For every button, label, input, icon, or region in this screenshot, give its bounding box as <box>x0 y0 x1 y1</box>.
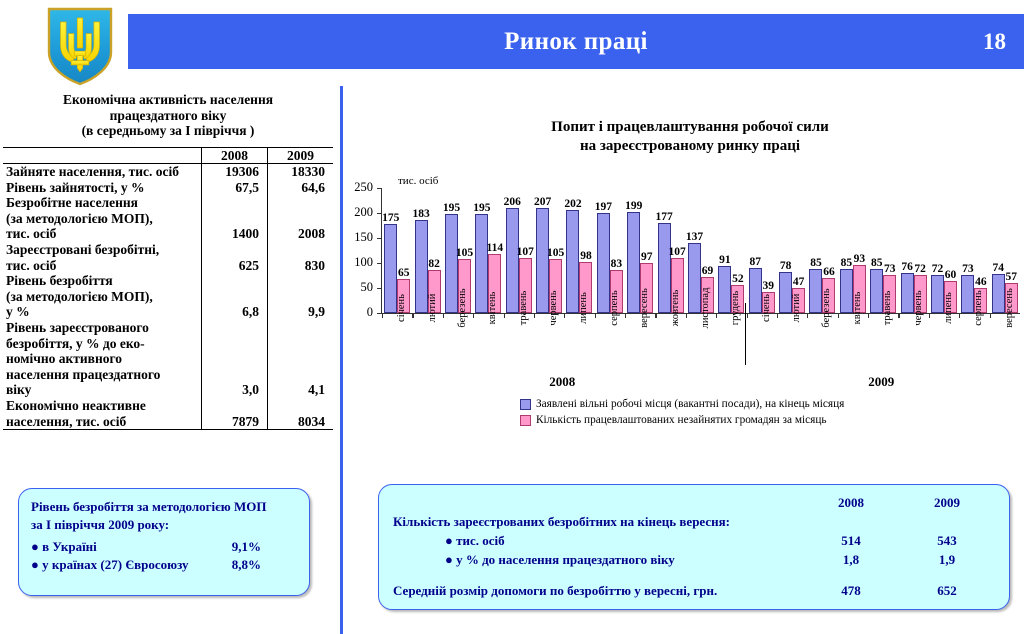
table-row-label: безробіття, у % до еко- <box>3 336 202 352</box>
table-cell-2009: 830 <box>268 258 334 274</box>
bar-value-label: 73 <box>884 263 896 275</box>
x-axis-month-cell: березень <box>442 307 472 363</box>
table-row: Рівень зареєстрованого <box>3 320 333 336</box>
table-row: Економічно неактивне <box>3 398 333 414</box>
legend-item-placements: Кількість працевлаштованих незайнятих гр… <box>520 412 844 428</box>
x-axis-month-label: серпень <box>609 290 620 325</box>
bar-value-label: 73 <box>962 263 974 275</box>
table-cell-2008 <box>202 336 268 352</box>
y-axis-labels: 250200150100500 <box>340 188 373 313</box>
table-cell-2008: 7879 <box>202 414 268 430</box>
x-axis-month-cell: липень <box>928 307 958 363</box>
table-cell-2008: 625 <box>202 258 268 274</box>
table-header-2008: 2008 <box>202 147 268 164</box>
bar-value-label: 66 <box>823 266 835 278</box>
year-label-2009: 2009 <box>868 374 894 390</box>
table-row: тис. осіб14002008 <box>3 226 333 242</box>
x-axis-month-label: червень <box>548 290 559 325</box>
table-cell-2008 <box>202 320 268 336</box>
y-axis-tick-label: 150 <box>343 230 373 245</box>
x-axis-month-cell: липень <box>563 307 593 363</box>
x-axis-month-cell: лютий <box>776 307 806 363</box>
table-row-label: Рівень зареєстрованого <box>3 320 202 336</box>
y-axis-tick-label: 250 <box>343 180 373 195</box>
bar-value-label: 72 <box>914 263 926 275</box>
table-row-label: тис. осіб <box>3 226 202 242</box>
table-cell-2008: 67,5 <box>202 180 268 196</box>
rc-item-label: ● у % до населення працездатного віку <box>393 550 803 569</box>
slide-number: 18 <box>983 14 1006 69</box>
x-axis-month-cell: грудень <box>715 307 745 363</box>
chart-title-line-2: на зареєстрованому ринку праці <box>360 137 1020 156</box>
legend-label: Кількість працевлаштованих незайнятих гр… <box>536 412 827 428</box>
table-cell-2009 <box>268 336 334 352</box>
x-axis-month-label: вересень <box>639 288 650 328</box>
x-axis-month-label: березень <box>821 288 832 327</box>
table-cell-2008 <box>202 367 268 383</box>
callout-item-value: 9,1% <box>232 538 297 556</box>
table-cell-2009 <box>268 242 334 258</box>
x-axis-month-cell: вересень <box>989 307 1019 363</box>
x-axis-month-cell: травень <box>867 307 897 363</box>
table-cell-2009: 64,6 <box>268 180 334 196</box>
legend-swatch-icon <box>520 415 531 426</box>
x-axis-month-label: листопад <box>700 288 711 329</box>
bar-value-label: 107 <box>668 246 685 258</box>
table-cell-2009: 2008 <box>268 226 334 242</box>
table-row-label: Зареєстровані безробітні, <box>3 242 202 258</box>
table-cell-2008 <box>202 211 268 227</box>
year-separator <box>745 303 746 365</box>
bar-value-label: 175 <box>382 212 399 224</box>
table-row: (за методологією МОП), <box>3 289 333 305</box>
x-axis-month-label: вересень <box>1004 288 1015 328</box>
table-row-label: населення працездатного <box>3 367 202 383</box>
legend-swatch-icon <box>520 399 531 410</box>
chart-title-line-1: Попит і працевлаштування робочої сили <box>360 118 1020 137</box>
rc-item-value-2008: 514 <box>803 531 899 550</box>
bar-value-label: 98 <box>580 250 592 262</box>
table-cell-2008: 3,0 <box>202 382 268 398</box>
bar-value-label: 195 <box>443 202 460 214</box>
x-axis-month-label: березень <box>457 288 468 327</box>
y-axis-tick <box>377 238 382 239</box>
x-axis-month-label: травень <box>518 291 529 326</box>
table-cell-2009 <box>268 398 334 414</box>
left-table-title-line-2: працездатного віку <box>8 108 328 124</box>
bar-value-label: 76 <box>901 261 913 273</box>
left-panel: Економічна активність населення працезда… <box>0 92 336 430</box>
table-row: номічно активного <box>3 351 333 367</box>
x-axis-month-label: серпень <box>973 290 984 325</box>
table-row-label: Безробітне населення <box>3 195 202 211</box>
table-header-2009: 2009 <box>268 147 334 164</box>
y-axis-tick <box>377 188 382 189</box>
y-axis-tick <box>377 213 382 214</box>
table-row: населення працездатного <box>3 367 333 383</box>
table-cell-2009: 4,1 <box>268 382 334 398</box>
table-cell-2009 <box>268 289 334 305</box>
y-axis-tick-label: 100 <box>343 255 373 270</box>
table-cell-2009 <box>268 320 334 336</box>
rc-item-value-2009: 1,9 <box>899 550 995 569</box>
y-axis-tick <box>377 263 382 264</box>
bar-value-label: 78 <box>780 260 792 272</box>
rc-header-row: 2008 2009 <box>393 493 995 512</box>
economic-activity-table: 20082009Зайняте населення, тис. осіб1930… <box>3 147 333 431</box>
table-row-label: Рівень зайнятості, у % <box>3 180 202 196</box>
left-table-title-line-1: Економічна активність населення <box>8 92 328 108</box>
table-cell-2009 <box>268 367 334 383</box>
table-row-label: тис. осіб <box>3 258 202 274</box>
bar-value-label: 183 <box>412 208 429 220</box>
x-axis-month-label: лютий <box>791 294 802 323</box>
bar-value-label: 91 <box>719 254 731 266</box>
x-axis-month-label: квітень <box>852 292 863 325</box>
table-header-row: 20082009 <box>3 147 333 164</box>
bar-value-label: 82 <box>428 258 440 270</box>
callout-item-label: ● в Україні <box>31 538 97 556</box>
table-cell-2008: 19306 <box>202 164 268 180</box>
table-row-label: віку <box>3 382 202 398</box>
bar-value-label: 60 <box>945 269 957 281</box>
chart-bar: 137 <box>688 243 701 314</box>
registered-unemployed-callout: 2008 2009 Кількість зареєстрованих безро… <box>378 484 1010 610</box>
rc-item-row: ● у % до населення працездатного віку 1,… <box>393 550 995 569</box>
bar-value-label: 85 <box>871 257 883 269</box>
table-cell-2009 <box>268 351 334 367</box>
rc-item-value-2008: 1,8 <box>803 550 899 569</box>
x-axis-month-cell: червень <box>897 307 927 363</box>
table-row: у %6,89,9 <box>3 304 333 320</box>
bar-value-label: 74 <box>992 262 1004 274</box>
x-axis-month-cell: вересень <box>624 307 654 363</box>
callout-item: ● в Україні 9,1% <box>31 538 297 556</box>
table-cell-2009 <box>268 195 334 211</box>
table-row: Зайняте населення, тис. осіб1930618330 <box>3 164 333 180</box>
x-axis-month-label: червень <box>913 290 924 325</box>
left-table-title: Економічна активність населення працезда… <box>0 92 336 139</box>
bar-value-label: 206 <box>504 196 521 208</box>
bar-value-label: 107 <box>517 246 534 258</box>
bar-value-label: 65 <box>398 267 410 279</box>
table-row-label: (за методологією МОП), <box>3 289 202 305</box>
callout-item: ● у країнах (27) Євросоюзу 8,8% <box>31 556 297 574</box>
table-cell-2008 <box>202 351 268 367</box>
rc-col-2009: 2009 <box>899 493 995 512</box>
bar-value-label: 197 <box>595 201 612 213</box>
x-axis-month-label: жовтень <box>670 290 681 327</box>
chart-bar: 206 <box>506 208 519 313</box>
y-axis-tick <box>377 288 382 289</box>
bar-value-label: 195 <box>473 202 490 214</box>
bar-value-label: 85 <box>810 257 822 269</box>
x-axis-month-cell: лютий <box>411 307 441 363</box>
x-axis-month-label: січень <box>761 294 772 322</box>
x-axis-month-cell: березень <box>806 307 836 363</box>
rc-footer-label: Середній розмір допомоги по безробіттю у… <box>393 581 803 600</box>
bar-value-label: 39 <box>762 280 774 292</box>
table-row-label: у % <box>3 304 202 320</box>
table-row: населення, тис. осіб78798034 <box>3 414 333 430</box>
x-axis-month-cell: червень <box>533 307 563 363</box>
page-title: Ринок праці <box>128 14 1024 69</box>
table-row: тис. осіб625830 <box>3 258 333 274</box>
y-axis-tick-label: 0 <box>343 305 373 320</box>
chart-title: Попит і працевлаштування робочої сили на… <box>360 118 1020 156</box>
table-cell-2008 <box>202 289 268 305</box>
bar-value-label: 114 <box>487 242 504 254</box>
rc-footer-value-2009: 652 <box>899 581 995 600</box>
bar-value-label: 177 <box>655 211 672 223</box>
x-axis-month-cell: серпень <box>594 307 624 363</box>
table-row-label: Рівень безробіття <box>3 273 202 289</box>
rc-item-label: ● тис. осіб <box>393 531 803 550</box>
table-row-label: номічно активного <box>3 351 202 367</box>
table-row: Зареєстровані безробітні, <box>3 242 333 258</box>
table-header-blank <box>3 147 202 164</box>
x-axis-month-label: грудень <box>730 291 741 325</box>
rc-heading: Кількість зареєстрованих безробітних на … <box>393 512 803 531</box>
bar-value-label: 72 <box>932 263 944 275</box>
table-cell-2009 <box>268 211 334 227</box>
x-axis-month-labels: січеньлютийберезеньквітеньтравеньчервень… <box>381 307 1019 363</box>
table-cell-2009 <box>268 273 334 289</box>
chart-bar: 197 <box>597 213 610 314</box>
table-cell-2008: 6,8 <box>202 304 268 320</box>
x-axis-month-cell: січень <box>746 307 776 363</box>
callout-item-value: 8,8% <box>232 556 297 574</box>
x-axis-month-label: лютий <box>427 294 438 323</box>
x-axis-month-cell: квітень <box>837 307 867 363</box>
header-banner: Ринок праці 18 <box>128 14 1024 69</box>
year-label-2008: 2008 <box>549 374 575 390</box>
bar-value-label: 105 <box>547 247 564 259</box>
bar-value-label: 199 <box>625 200 642 212</box>
bar-value-label: 137 <box>686 231 703 243</box>
callout-heading-line-2: за І півріччя 2009 року: <box>31 516 297 534</box>
x-axis-month-label: січень <box>396 294 407 322</box>
table-cell-2008 <box>202 195 268 211</box>
table-row: (за методологією МОП), <box>3 211 333 227</box>
chart-bar: 195 <box>445 214 458 314</box>
y-axis-tick-label: 50 <box>343 280 373 295</box>
x-axis-month-label: липень <box>578 292 589 324</box>
table-cell-2008 <box>202 242 268 258</box>
bar-value-label: 85 <box>841 257 853 269</box>
rc-footer-value-2008: 478 <box>803 581 899 600</box>
table-row: безробіття, у % до еко- <box>3 336 333 352</box>
bar-value-label: 207 <box>534 196 551 208</box>
table-row-label: (за методологією МОП), <box>3 211 202 227</box>
callout-item-label: ● у країнах (27) Євросоюзу <box>31 556 189 574</box>
table-row: Безробітне населення <box>3 195 333 211</box>
x-axis-month-label: травень <box>882 291 893 326</box>
ukraine-coat-of-arms-emblem <box>44 6 116 86</box>
table-cell-2008 <box>202 273 268 289</box>
table-row: Рівень зайнятості, у %67,564,6 <box>3 180 333 196</box>
x-axis-month-cell: серпень <box>958 307 988 363</box>
table-row-label: населення, тис. осіб <box>3 414 202 430</box>
rc-item-row: ● тис. осіб 514 543 <box>393 531 995 550</box>
table-cell-2008: 1400 <box>202 226 268 242</box>
y-axis-unit-label: тис. осіб <box>398 175 438 187</box>
bar-value-label: 47 <box>793 276 805 288</box>
bar-value-label: 83 <box>611 258 623 270</box>
x-axis-month-label: липень <box>943 292 954 324</box>
bar-value-label: 97 <box>641 251 653 263</box>
bar-value-label: 46 <box>975 276 987 288</box>
chart-legend: Заявлені вільні робочі місця (вакантні п… <box>520 396 844 428</box>
x-axis-month-cell: січень <box>381 307 411 363</box>
bar-value-label: 202 <box>564 198 581 210</box>
bar-value-label: 87 <box>749 256 761 268</box>
bar-value-label: 105 <box>456 247 473 259</box>
table-cell-2009: 8034 <box>268 414 334 430</box>
chart-bar: 177 <box>658 223 671 314</box>
left-table-title-line-3: (в середньому за І півріччя ) <box>8 123 328 139</box>
table-cell-2009: 18330 <box>268 164 334 180</box>
y-axis-tick-label: 200 <box>343 205 373 220</box>
rc-item-value-2009: 543 <box>899 531 995 550</box>
callout-heading-line-1: Рівень безробіття за методологією МОП <box>31 498 297 516</box>
bar-value-label: 93 <box>854 253 866 265</box>
table-row: віку3,04,1 <box>3 382 333 398</box>
bar-value-label: 69 <box>702 265 714 277</box>
x-axis-month-cell: квітень <box>472 307 502 363</box>
coat-of-arms-icon <box>44 6 116 86</box>
x-axis-month-cell: листопад <box>685 307 715 363</box>
x-axis-month-cell: травень <box>503 307 533 363</box>
rc-footer-row: Середній розмір допомоги по безробіттю у… <box>393 581 995 600</box>
bar-value-label: 52 <box>732 273 744 285</box>
table-cell-2009: 9,9 <box>268 304 334 320</box>
table-row-label: Зайняте населення, тис. осіб <box>3 164 202 180</box>
x-axis-month-label: квітень <box>487 292 498 325</box>
table-row-label: Економічно неактивне <box>3 398 202 414</box>
chart-bar: 183 <box>415 220 428 314</box>
rc-col-2008: 2008 <box>803 493 899 512</box>
x-axis-month-cell: жовтень <box>654 307 684 363</box>
legend-label: Заявлені вільні робочі місця (вакантні п… <box>536 396 844 412</box>
ilo-unemployment-callout: Рівень безробіття за методологією МОП за… <box>18 488 310 596</box>
rc-heading-row: Кількість зареєстрованих безробітних на … <box>393 512 995 531</box>
table-row: Рівень безробіття <box>3 273 333 289</box>
legend-item-vacancies: Заявлені вільні робочі місця (вакантні п… <box>520 396 844 412</box>
table-cell-2008 <box>202 398 268 414</box>
bar-value-label: 57 <box>1005 271 1017 283</box>
